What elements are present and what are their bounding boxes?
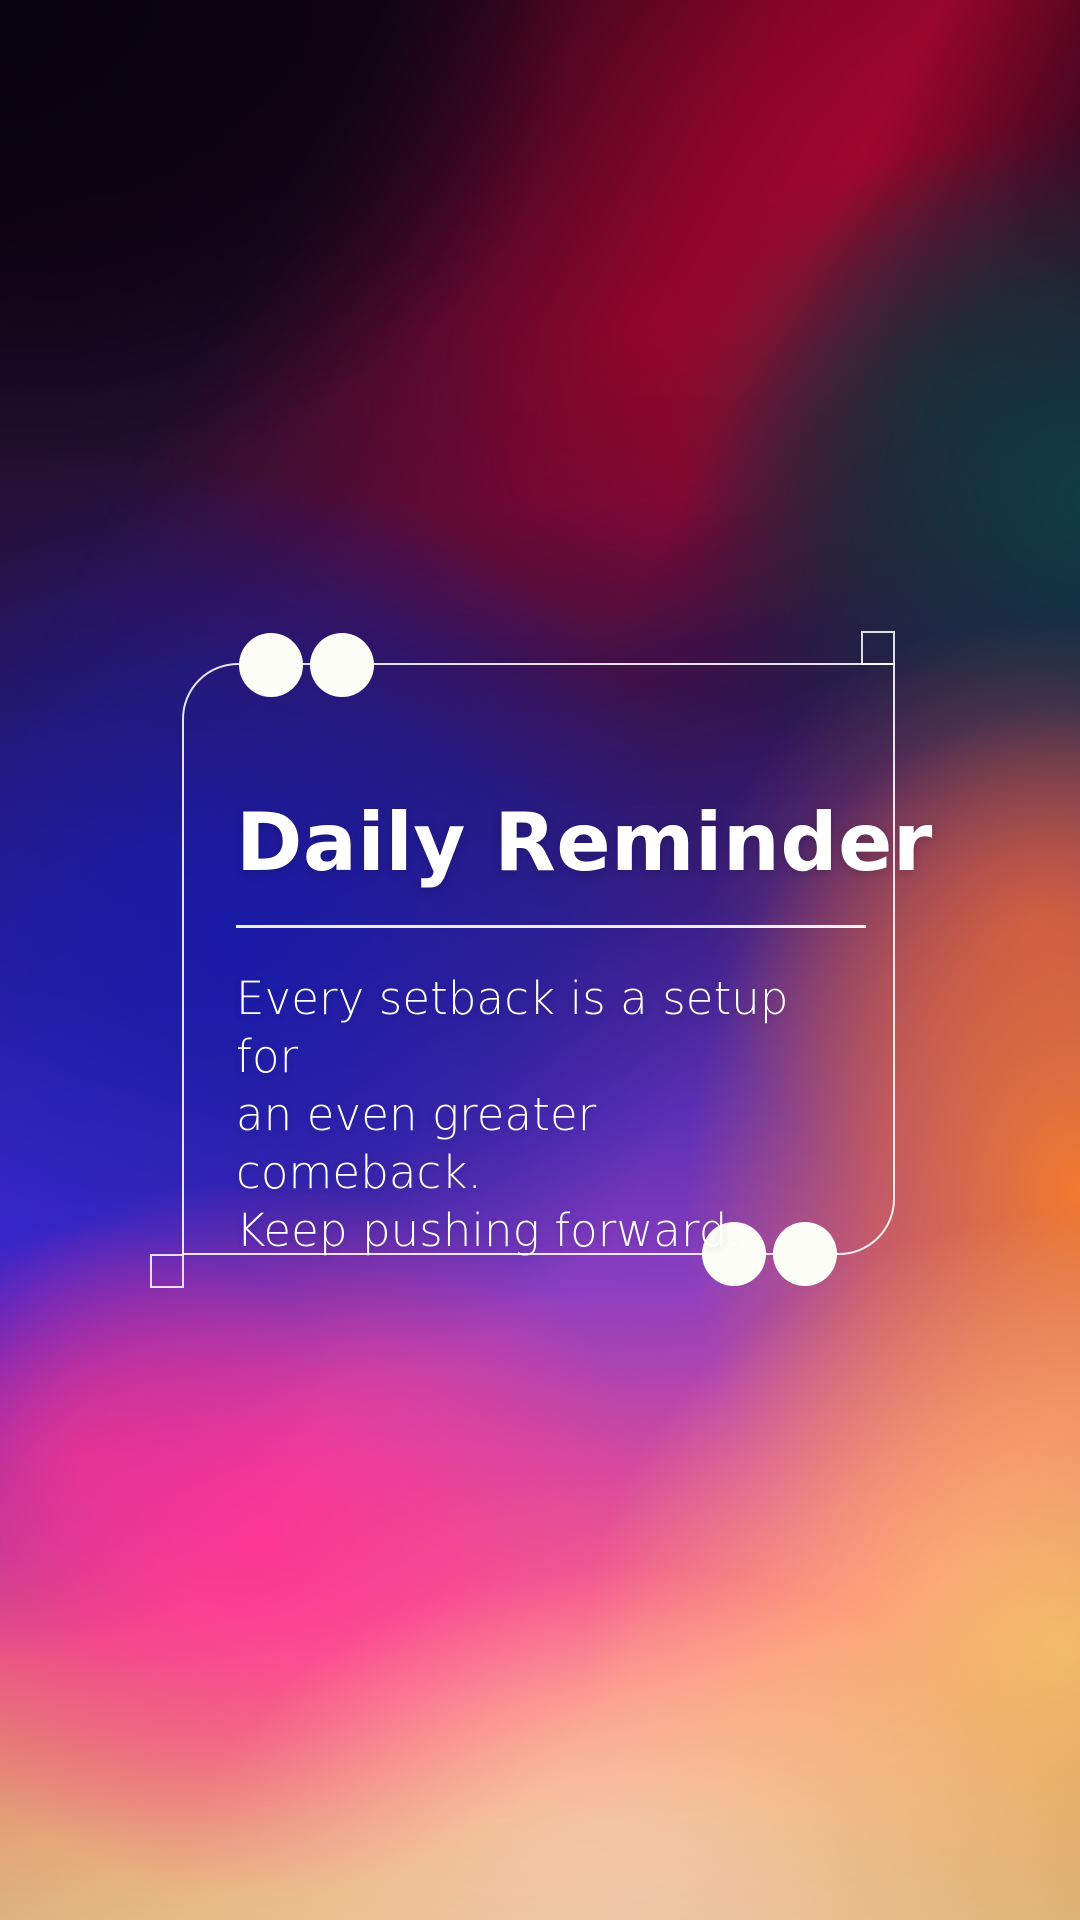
card-body-line: Every setback is a setup for	[236, 972, 789, 1083]
card-body-text: Every setback is a setup foran even grea…	[236, 928, 836, 1260]
card-title: Daily Reminder	[236, 663, 860, 883]
quote-card-content: Daily Reminder Every setback is a setup …	[236, 663, 860, 1260]
card-body-line: Keep pushing forward.	[236, 1204, 742, 1257]
card-body-line: an even greater comeback.	[236, 1088, 596, 1199]
corner-square-top-right-icon	[861, 631, 895, 665]
poster-canvas: Daily Reminder Every setback is a setup …	[0, 0, 1080, 1920]
corner-square-bottom-left-icon	[150, 1254, 184, 1288]
